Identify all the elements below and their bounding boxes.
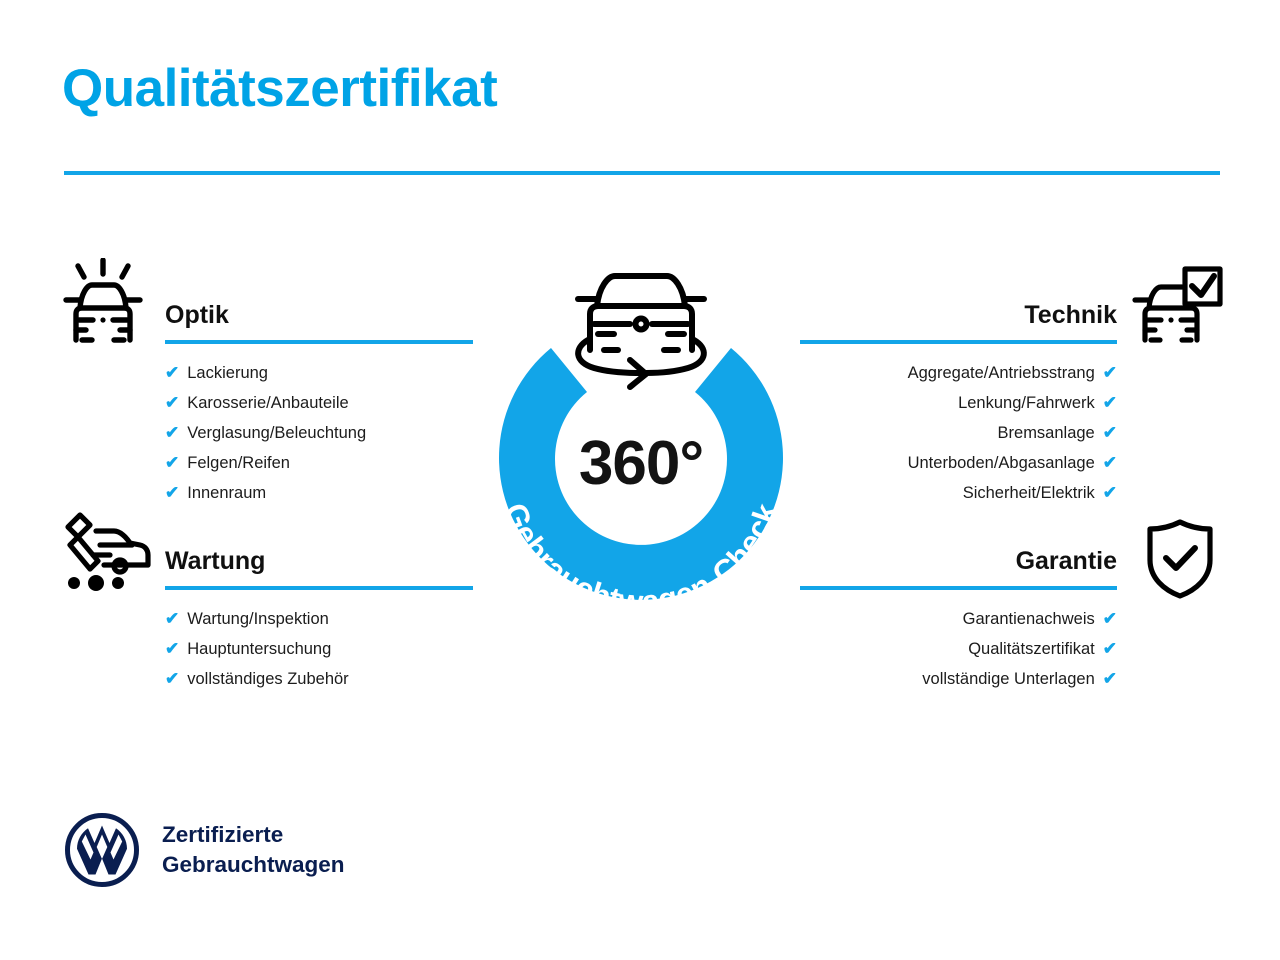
section-underline [800, 586, 1117, 590]
list-item-label: Garantienachweis [963, 604, 1095, 634]
checklist-garantie: Garantienachweis ✔ Qualitätszertifikat ✔… [800, 604, 1117, 694]
list-item: Qualitätszertifikat ✔ [800, 634, 1117, 664]
check-icon: ✔ [165, 634, 179, 664]
list-item: ✔ vollständiges Zubehör [165, 664, 473, 694]
section-wartung: Wartung ✔ Wartung/Inspektion ✔ Hauptunte… [165, 546, 473, 694]
vw-footer-text: Zertifizierte Gebrauchtwagen [162, 820, 345, 880]
check-icon: ✔ [165, 604, 179, 634]
car-checkbox-icon [1132, 266, 1224, 349]
vw-roundel-logo [64, 812, 140, 888]
section-title: Technik [800, 300, 1117, 330]
check-icon: ✔ [165, 388, 179, 418]
badge-center-label: 360° [455, 433, 827, 495]
list-item-label: Hauptuntersuchung [187, 634, 331, 664]
list-item: ✔ Verglasung/Beleuchtung [165, 418, 473, 448]
page-title: Qualitätszertifikat [62, 62, 497, 115]
section-underline [800, 340, 1117, 344]
header-divider [64, 171, 1220, 175]
list-item-label: Lenkung/Fahrwerk [958, 388, 1095, 418]
list-item-label: Wartung/Inspektion [187, 604, 329, 634]
checklist-optik: ✔ Lackierung ✔ Karosserie/Anbauteile ✔ V… [165, 358, 473, 508]
list-item: ✔ Innenraum [165, 478, 473, 508]
list-item-label: Innenraum [187, 478, 266, 508]
list-item: Sicherheit/Elektrik ✔ [800, 478, 1117, 508]
list-item: Aggregate/Antriebsstrang ✔ [800, 358, 1117, 388]
list-item: ✔ Felgen/Reifen [165, 448, 473, 478]
section-title: Garantie [800, 546, 1117, 576]
car-service-icon [60, 509, 152, 598]
list-item-label: Sicherheit/Elektrik [963, 478, 1095, 508]
section-header-technik: Technik [800, 300, 1117, 344]
check-icon: ✔ [1103, 418, 1117, 448]
list-item: ✔ Lackierung [165, 358, 473, 388]
check-icon: ✔ [1103, 388, 1117, 418]
check-icon: ✔ [165, 664, 179, 694]
check-icon: ✔ [1103, 448, 1117, 478]
list-item: ✔ Hauptuntersuchung [165, 634, 473, 664]
shield-check-icon [1144, 518, 1216, 605]
section-header-wartung: Wartung [165, 546, 473, 590]
list-item: Garantienachweis ✔ [800, 604, 1117, 634]
check-icon: ✔ [1103, 358, 1117, 388]
list-item: vollständige Unterlagen ✔ [800, 664, 1117, 694]
section-header-garantie: Garantie [800, 546, 1117, 590]
360-check-badge: Gebrauchtwagen-Check [455, 248, 827, 638]
list-item-label: Karosserie/Anbauteile [187, 388, 348, 418]
car-rotate-icon [578, 276, 704, 387]
list-item-label: Aggregate/Antriebsstrang [908, 358, 1095, 388]
certificate-page: Qualitätszertifikat [0, 0, 1280, 960]
car-shine-icon [62, 258, 144, 349]
list-item-label: vollständiges Zubehör [187, 664, 348, 694]
section-title: Wartung [165, 546, 473, 576]
checklist-technik: Aggregate/Antriebsstrang ✔ Lenkung/Fahrw… [800, 358, 1117, 508]
check-icon: ✔ [1103, 664, 1117, 694]
vw-certified-footer: Zertifizierte Gebrauchtwagen [64, 812, 345, 888]
check-icon: ✔ [165, 448, 179, 478]
list-item: ✔ Wartung/Inspektion [165, 604, 473, 634]
list-item: Bremsanlage ✔ [800, 418, 1117, 448]
section-technik: Technik Aggregate/Antriebsstrang ✔ Lenku… [800, 300, 1117, 508]
list-item: Lenkung/Fahrwerk ✔ [800, 388, 1117, 418]
section-garantie: Garantie Garantienachweis ✔ Qualitätszer… [800, 546, 1117, 694]
list-item-label: Qualitätszertifikat [968, 634, 1095, 664]
section-optik: Optik ✔ Lackierung ✔ Karosserie/Anbautei… [165, 300, 473, 508]
section-underline [165, 586, 473, 590]
check-icon: ✔ [165, 418, 179, 448]
check-icon: ✔ [1103, 478, 1117, 508]
section-underline [165, 340, 473, 344]
list-item-label: Unterboden/Abgasanlage [908, 448, 1095, 478]
check-icon: ✔ [1103, 634, 1117, 664]
section-title: Optik [165, 300, 473, 330]
list-item-label: Bremsanlage [998, 418, 1095, 448]
check-icon: ✔ [165, 478, 179, 508]
list-item-label: vollständige Unterlagen [922, 664, 1094, 694]
vw-footer-line-2: Gebrauchtwagen [162, 850, 345, 880]
check-icon: ✔ [1103, 604, 1117, 634]
list-item: ✔ Karosserie/Anbauteile [165, 388, 473, 418]
vw-footer-line-1: Zertifizierte [162, 820, 345, 850]
list-item-label: Verglasung/Beleuchtung [187, 418, 366, 448]
check-icon: ✔ [165, 358, 179, 388]
list-item: Unterboden/Abgasanlage ✔ [800, 448, 1117, 478]
checklist-wartung: ✔ Wartung/Inspektion ✔ Hauptuntersuchung… [165, 604, 473, 694]
section-header-optik: Optik [165, 300, 473, 344]
list-item-label: Lackierung [187, 358, 268, 388]
list-item-label: Felgen/Reifen [187, 448, 290, 478]
